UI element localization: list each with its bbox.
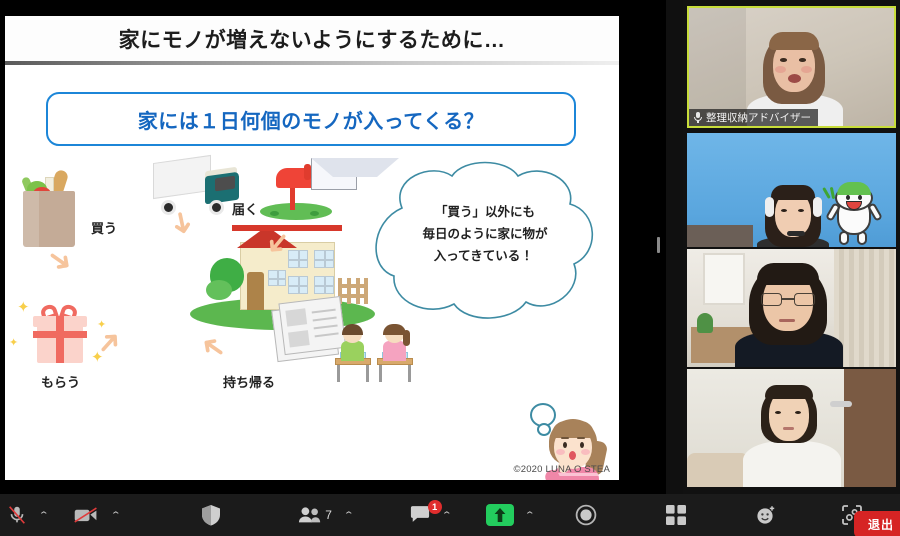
bubble-line: 入ってきている ！ (382, 246, 588, 268)
diagram-label-receive: もらう (41, 372, 80, 391)
audio-options-chevron-up-icon[interactable]: ⌃ (29, 494, 58, 536)
meeting-toolbar: ⌃ ⌃ 7 ⌃ (0, 494, 900, 536)
bubble-line: 「買う」以外にも (382, 202, 588, 224)
record-button[interactable] (566, 494, 606, 536)
slide-title-bar: 家にモノが増えないようにするために… (5, 16, 619, 61)
video-thumbnail-strip: 整理収納アドバイザー (683, 0, 900, 494)
participant-name: 整理収納アドバイザー (706, 110, 811, 125)
participants-count: 7 (325, 508, 332, 522)
sparkle-icon: ✦ (9, 338, 18, 349)
mic-muted-icon (694, 112, 702, 123)
video-tile-active-speaker[interactable]: 整理収納アドバイザー (687, 6, 896, 128)
presentation-slide[interactable]: 家にモノが増えないようにするために… 家には１日何個のモノが入ってくる？ 買う (5, 16, 619, 480)
breakout-rooms-button[interactable] (656, 494, 696, 536)
video-options-chevron-up-icon[interactable]: ⌃ (101, 494, 130, 536)
school-children-icon (335, 320, 417, 382)
slide-question-text: 家には１日何個のモノが入ってくる？ (138, 105, 485, 134)
sparkle-icon: ✦ (17, 300, 30, 315)
shared-screen-region[interactable]: 家にモノが増えないようにするために… 家には１日何個のモノが入ってくる？ 買う (0, 0, 666, 494)
slide-title: 家にモノが増えないようにするために… (119, 24, 506, 54)
security-button[interactable] (191, 494, 231, 536)
participants-button[interactable]: 7 (291, 494, 339, 536)
gift-box-icon (27, 305, 93, 367)
thought-bubble: 「買う」以外にも 毎日のように家に物が 入ってきている ！ (360, 160, 610, 325)
panel-resize-handle[interactable] (657, 237, 660, 253)
eyeglasses-icon (761, 293, 815, 306)
video-tile-participant-2[interactable] (687, 133, 896, 247)
zoom-meeting-window: 家にモノが増えないようにするために… 家には１日何個のモノが入ってくる？ 買う (0, 0, 900, 536)
slide-copyright: ©2020 LUNA O STEA (514, 464, 610, 475)
flow-arrow-icon: ➜ (195, 328, 233, 367)
stop-video-button[interactable] (66, 494, 106, 536)
leave-meeting-button[interactable]: 退出 (854, 511, 900, 536)
video-tile-participant-3[interactable] (687, 249, 896, 367)
chat-chevron-up-icon[interactable]: ⌃ (432, 494, 461, 536)
slide-question-box: 家には１日何個のモノが入ってくる？ (46, 92, 576, 146)
grocery-bag-icon (19, 167, 79, 247)
participant-name-badge: 整理収納アドバイザー (689, 109, 818, 126)
share-screen-icon (486, 504, 514, 526)
participants-chevron-up-icon[interactable]: ⌃ (334, 494, 363, 536)
mascot-character-icon (829, 185, 881, 247)
slide-body: 家には１日何個のモノが入ってくる？ 買う 届く (5, 65, 619, 480)
diagram-label-buy: 買う (91, 218, 117, 237)
flow-arrow-icon: ➜ (41, 242, 79, 281)
thought-bubble-text: 「買う」以外にも 毎日のように家に物が 入ってきている ！ (382, 202, 588, 268)
diagram-label-bring-home: 持ち帰る (223, 372, 275, 391)
video-tile-participant-4[interactable] (687, 369, 896, 487)
share-options-chevron-up-icon[interactable]: ⌃ (515, 494, 544, 536)
reactions-button[interactable] (746, 494, 786, 536)
bubble-line: 毎日のように家に物が (382, 224, 588, 246)
envelope-icon (311, 158, 357, 190)
diagram-label-deliver: 届く (232, 199, 258, 218)
